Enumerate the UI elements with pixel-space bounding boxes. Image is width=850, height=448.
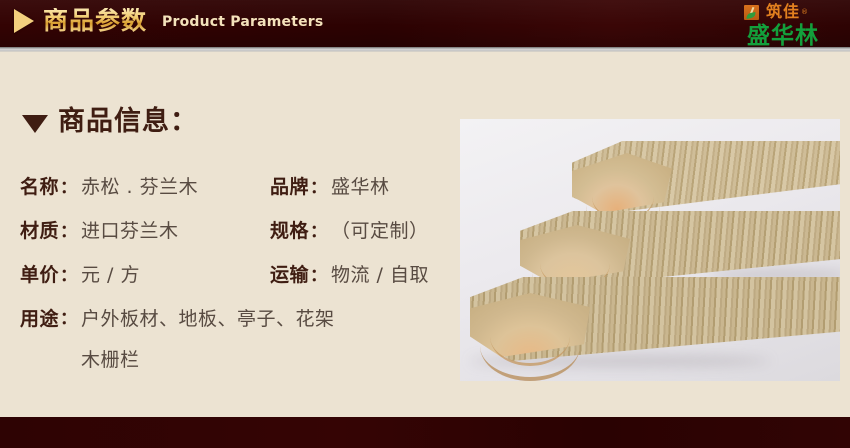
header-title-group: 商品参数 Product Parameters [14,8,323,33]
spec-value: 户外板材、地板、亭子、花架 [81,304,335,331]
spec-item-price: 单价 ： 元 / 方 [20,260,270,287]
spec-value: 赤松 . 芬兰木 [81,172,198,199]
spec-colon: ： [60,304,77,329]
spec-item-transport: 运输 ： 物流 / 自取 [270,260,429,287]
spec-label: 运输 [270,260,309,287]
page-footer [0,417,850,448]
header-divider [0,47,850,52]
logo-top-row: 筑佳 ® [724,2,842,22]
spec-label: 材质 [20,216,59,243]
header-title-cn: 商品参数 [43,8,147,33]
spec-colon: ： [60,173,77,198]
registered-trademark-icon: ® [801,8,808,16]
plank-top [572,141,840,213]
spec-colon: ： [310,261,327,286]
spec-label: 单价 [20,260,59,287]
spec-value: （可定制） [331,216,429,243]
plank-middle [520,211,840,287]
spec-value: 物流 / 自取 [331,260,429,287]
leaf-shape [746,12,757,19]
spec-item-spec: 规格 ： （可定制） [270,216,429,243]
spec-row: 单价 ： 元 / 方 运输 ： 物流 / 自取 [20,260,450,287]
spec-colon: ： [310,217,327,242]
triangle-down-icon [22,115,48,133]
spec-item-usage: 用途 ： 户外板材、地板、亭子、花架 木栅栏 [20,304,450,372]
spec-label: 规格 [270,216,309,243]
plank-bottom [470,277,840,361]
plank-annual-ring [490,307,570,366]
triangle-right-icon [14,9,34,33]
product-parameters-page: 商品参数 Product Parameters 筑佳 ® 盛华林 商品信息： 名… [0,0,850,448]
spec-value: 木栅栏 [81,345,335,372]
spec-colon: ： [310,173,327,198]
section-title: 商品信息： [22,108,198,135]
brand-logo: 筑佳 ® 盛华林 [724,2,842,46]
spec-colon: ： [60,261,77,286]
spec-item-brand: 品牌 ： 盛华林 [270,172,390,199]
spec-row: 材质 ： 进口芬兰木 规格 ： （可定制） [20,216,450,243]
page-header: 商品参数 Product Parameters 筑佳 ® 盛华林 [0,0,850,47]
header-title-en: Product Parameters [162,14,323,30]
logo-brand-bottom: 盛华林 [724,25,842,47]
spec-label: 用途 [20,304,59,331]
spec-colon: ： [60,217,77,242]
usage-values: 户外板材、地板、亭子、花架 木栅栏 [81,304,335,372]
logo-brand-top: 筑佳 [766,4,800,20]
spec-label: 品牌 [270,172,309,199]
spec-list: 名称 ： 赤松 . 芬兰木 品牌 ： 盛华林 材质 ： 进口芬兰木 规格 ： （… [20,172,450,389]
spec-item-material: 材质 ： 进口芬兰木 [20,216,270,243]
product-photo [460,119,840,381]
leaf-mark-icon [744,5,759,20]
spec-value: 进口芬兰木 [81,216,179,243]
section-title-label: 商品信息： [58,108,198,135]
spec-label: 名称 [20,172,59,199]
spec-row: 名称 ： 赤松 . 芬兰木 品牌 ： 盛华林 [20,172,450,199]
spec-value: 盛华林 [331,172,390,199]
spec-item-name: 名称 ： 赤松 . 芬兰木 [20,172,270,199]
spec-value: 元 / 方 [81,260,140,287]
